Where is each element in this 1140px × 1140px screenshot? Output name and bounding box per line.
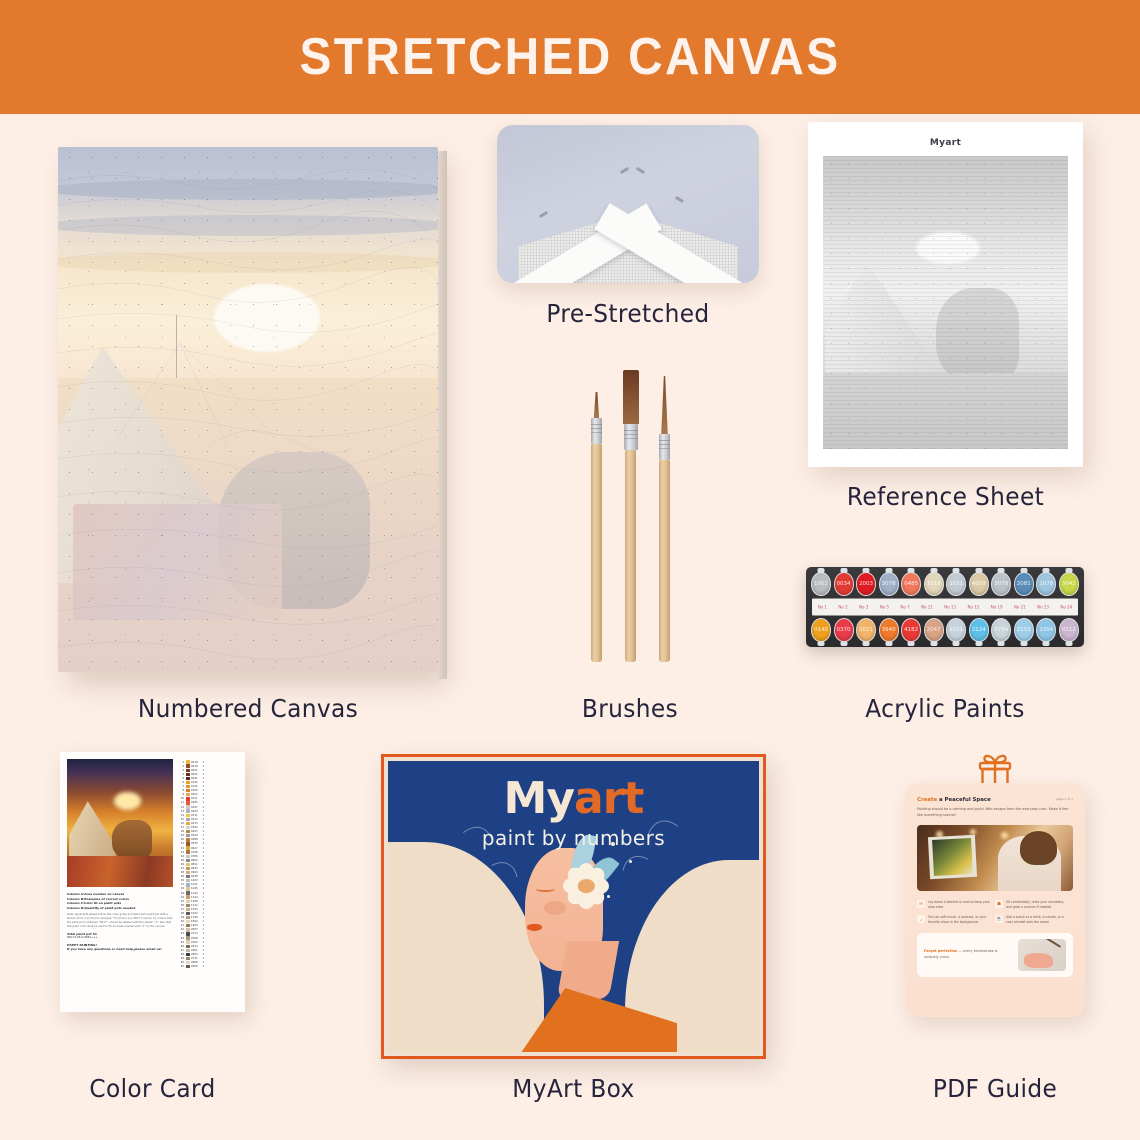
paint-pot: 3078 — [991, 572, 1011, 596]
swatch-qty: 1 — [203, 797, 207, 800]
brush-medium-round — [659, 376, 670, 662]
paint-pot-code: 0140 — [811, 618, 831, 642]
logo-my: My — [504, 773, 574, 824]
swatch-code: 0022 — [191, 773, 201, 776]
paint-pot-code: 0485 — [901, 572, 921, 596]
swatch-code: 0218 — [191, 761, 201, 764]
paint-pot-code: 0034 — [834, 572, 854, 596]
swatch-code: 0141 — [191, 785, 201, 788]
swatch-number: 28 — [178, 871, 184, 874]
swatch-qty: 1 — [203, 773, 207, 776]
paint-pot-code: 0112 — [1059, 618, 1079, 642]
staple — [539, 211, 548, 218]
swatch-code: 0407 — [191, 830, 201, 833]
swatch-code: 2007 — [191, 928, 201, 931]
paint-tray: 1002003420033078048510181031460930782081… — [806, 567, 1084, 647]
caption-myart-box: MyArt Box — [394, 1074, 752, 1103]
paint-label-code: No 11 — [921, 605, 933, 610]
paint-label-code: No 5 — [880, 605, 889, 610]
swatch-code: 0444 — [191, 834, 201, 837]
swatch-code: 1102 — [191, 892, 201, 895]
paint-pot: 1018 — [924, 572, 944, 596]
ref-texture — [823, 156, 1068, 449]
myart-box-front: Myart paint by numbers — [388, 761, 759, 1052]
swatch-code: 0021 — [191, 769, 201, 772]
swatch-code: 1622 — [191, 912, 201, 915]
swatch-qty: 1 — [203, 957, 207, 960]
card-rug — [67, 856, 173, 887]
swatch-number: 2 — [178, 765, 184, 768]
brush-thin-round — [591, 394, 602, 662]
pdf-heading-highlight: Create — [917, 797, 937, 803]
paint-pot: 2204 — [1036, 618, 1056, 642]
swatch-qty: 1 — [203, 912, 207, 915]
pre-stretched-card — [497, 125, 759, 283]
paint-pot: 1078 — [1036, 572, 1056, 596]
swatch-number: 5 — [178, 777, 184, 780]
reference-sheet-logo: Myart — [823, 138, 1068, 148]
swatch-code: 0488 — [191, 838, 201, 841]
brush-tip — [623, 370, 639, 424]
swatch-number: 16 — [178, 822, 184, 825]
paint-pot-code: 1078 — [1036, 572, 1056, 596]
swatch-code: 2604 — [191, 953, 201, 956]
card-tent — [69, 801, 116, 859]
swatch-number: 42 — [178, 928, 184, 931]
swatch-qty: 1 — [203, 908, 207, 911]
paint-pot-code: 0794 — [991, 618, 1011, 642]
swatch-number: 14 — [178, 814, 184, 817]
swatch-qty: 1 — [203, 822, 207, 825]
photo-easel — [928, 835, 977, 880]
caption-numbered-canvas: Numbered Canvas — [71, 694, 424, 723]
photo-easel-painting — [932, 839, 973, 876]
swatch-code: 2302 — [191, 941, 201, 944]
swatch-number: 17 — [178, 826, 184, 829]
paint-pot-code: 1018 — [924, 572, 944, 596]
swatch-qty: 1 — [203, 761, 207, 764]
paint-pot: 4182 — [901, 618, 921, 642]
brush-handle — [591, 444, 602, 662]
paint-label-code: No 21 — [1014, 605, 1026, 610]
swatch-qty: 1 — [203, 892, 207, 895]
swatch-number: 8 — [178, 789, 184, 792]
swatch-qty: 1 — [203, 863, 207, 866]
swatch-code: 2711 — [191, 957, 201, 960]
brush-ferrule — [591, 418, 602, 444]
brush-tip — [659, 376, 670, 434]
swatch-code: 1003 — [191, 879, 201, 882]
swatch-qty: 1 — [203, 847, 207, 850]
pdf-tip: ♪Turn on soft music, a podcast, or your … — [917, 913, 995, 928]
card-camel — [112, 820, 152, 858]
staple — [675, 196, 684, 203]
swatch-number: 43 — [178, 932, 184, 935]
paint-pot: 1031 — [946, 572, 966, 596]
swatch-number: 32 — [178, 887, 184, 890]
paint-pot: 0112 — [1059, 618, 1079, 642]
swatch-qty: 1 — [203, 871, 207, 874]
pdf-callout-image — [1018, 939, 1066, 971]
swatch-number: 15 — [178, 818, 184, 821]
swatch-code: 2900 — [191, 965, 201, 968]
callout-hand — [1024, 953, 1053, 967]
color-card-text: Column A:Area number on canvas Column B:… — [67, 892, 173, 952]
paint-label-code: No 13 — [944, 605, 956, 610]
brush-flat-wide — [625, 370, 636, 662]
staple — [620, 167, 629, 174]
music-icon: ♪ — [917, 915, 925, 923]
swatch-number: 37 — [178, 908, 184, 911]
swatch-code: 0342 — [191, 826, 201, 829]
swatch-number: 24 — [178, 855, 184, 858]
daisy-flower-icon — [562, 866, 610, 907]
brush-handle — [625, 450, 636, 662]
swatch-code: 0535 — [191, 842, 201, 845]
swatch-code: 1503 — [191, 908, 201, 911]
paint-pot-code: 1031 — [946, 572, 966, 596]
pdf-callout-text: Forget perfection — every brushstroke is… — [924, 949, 1012, 961]
swatch-number: 4 — [178, 773, 184, 776]
pdf-tip: ☕Add a snack or a drink, a candle, or a … — [995, 913, 1073, 928]
photo-person-hair — [1020, 831, 1057, 865]
swatch-code: 2808 — [191, 961, 201, 964]
pdf-heading-rest: a Peaceful Space — [937, 797, 991, 803]
swatch-number: 27 — [178, 867, 184, 870]
paint-pot-code: 1021 — [946, 618, 966, 642]
swatch-qty: 1 — [203, 842, 207, 845]
paint-pot-code: 0021 — [856, 618, 876, 642]
cup-icon: ☕ — [995, 915, 1003, 923]
swatch-qty: 1 — [203, 859, 207, 862]
canvas-side-edge — [437, 151, 447, 680]
pdf-guide-tips: ✉Lay down a blanket or mat to keep your … — [917, 898, 1073, 928]
swatch-qty: 1 — [203, 883, 207, 886]
paint-pot-code: 3078 — [879, 572, 899, 596]
swatch-number: 29 — [178, 875, 184, 878]
swatch-code: 0140 — [191, 781, 201, 784]
pdf-guide-body: Painting should be a calming and joyful … — [917, 807, 1073, 819]
paint-pot-code: 2003 — [856, 572, 876, 596]
pdf-tip-text: Lay down a blanket or mat to keep your a… — [928, 900, 992, 910]
swatch-row: 5129001 — [178, 965, 238, 969]
pdf-guide-callout: Forget perfection — every brushstroke is… — [917, 933, 1073, 977]
swatch-qty: 1 — [203, 949, 207, 952]
swatch-qty: 1 — [203, 781, 207, 784]
swatch-number: 35 — [178, 900, 184, 903]
swatch-qty: 1 — [203, 953, 207, 956]
caption-reference-sheet: Reference Sheet — [818, 482, 1074, 511]
swatch-number: 19 — [178, 834, 184, 837]
swatch-number: 26 — [178, 863, 184, 866]
phone-off-icon: ✉ — [917, 900, 925, 908]
swatch-number: 45 — [178, 941, 184, 944]
swatch-qty: 1 — [203, 826, 207, 829]
swatch-code: 0900 — [191, 871, 201, 874]
page-header: STRETCHED CANVAS — [0, 0, 1140, 114]
paint-pot: 3078 — [879, 572, 899, 596]
paint-pot: 0370 — [834, 618, 854, 642]
swatch-code: 0811 — [191, 863, 201, 866]
swatch-qty: 1 — [203, 932, 207, 935]
swatch-number: 20 — [178, 838, 184, 841]
swatch-code: 1244 — [191, 896, 201, 899]
swatch-qty: 1 — [203, 879, 207, 882]
paint-pot: 2047 — [924, 618, 944, 642]
paint-label-code: No 1 — [818, 605, 827, 610]
swatch-number: 41 — [178, 924, 184, 927]
canvas-artwork — [58, 147, 438, 672]
paint-label-code: No 19 — [991, 605, 1003, 610]
paint-label-code: No 23 — [1037, 605, 1049, 610]
paint-pot: 2081 — [1014, 572, 1034, 596]
color-card-image: Column A:Area number on canvas Column B:… — [60, 752, 245, 1012]
pdf-tip: ☗Sit comfortably, relax your shoulders, … — [995, 898, 1073, 913]
swatch-number: 21 — [178, 842, 184, 845]
legend-column-d: Column D:Quantity of paint pots needed — [67, 906, 173, 911]
swatch-number: 6 — [178, 781, 184, 784]
color-card-sku: SKU=0-05-LU3081+++ — [67, 936, 98, 939]
swatch-qty: 1 — [203, 838, 207, 841]
color-card-contact: If you have any questions or need help,p… — [67, 947, 173, 952]
swatch-number: 9 — [178, 793, 184, 796]
paint-pot-code: 3042 — [1059, 572, 1079, 596]
swatch-code: 0207 — [191, 793, 201, 796]
paint-pot-code: 2204 — [1036, 618, 1056, 642]
canvas-contour-lines — [58, 147, 438, 672]
pdf-guide-heading: page 1 of 1 Create a Peaceful Space — [917, 797, 1073, 803]
color-card-artwork — [67, 759, 173, 887]
swatch-qty: 1 — [203, 855, 207, 858]
paint-pot: 0021 — [856, 618, 876, 642]
pdf-guide-card: page 1 of 1 Create a Peaceful Space Pain… — [905, 783, 1085, 1017]
swatch-number: 10 — [178, 797, 184, 800]
paint-pot: 1002 — [811, 572, 831, 596]
chair-icon: ☗ — [995, 900, 1003, 908]
swatch-code: 0802 — [191, 859, 201, 862]
swatch-code: 2414 — [191, 945, 201, 948]
swatch-qty: 1 — [203, 941, 207, 944]
swatch-qty: 1 — [203, 806, 207, 809]
swatch-number: 23 — [178, 851, 184, 854]
swatch-code: 0708 — [191, 851, 201, 854]
reference-sheet-artwork — [823, 156, 1068, 449]
swatch-code: 0617 — [191, 847, 201, 850]
paint-pot-code: 4182 — [901, 618, 921, 642]
brushes-image — [565, 362, 695, 662]
myart-box-image: Myart paint by numbers — [381, 754, 766, 1059]
bokeh-light — [1001, 832, 1008, 839]
swatch-number: 33 — [178, 892, 184, 895]
swatch-number: 1 — [178, 761, 184, 764]
swatch-number: 11 — [178, 801, 184, 804]
swatch-number: 46 — [178, 945, 184, 948]
swatch-number: 18 — [178, 830, 184, 833]
swatch-number: 51 — [178, 965, 184, 968]
paint-label-strip: No 1No 2No 3No 5No 7No 11No 13No 15No 19… — [812, 599, 1078, 616]
swatch-number: 38 — [178, 912, 184, 915]
paint-label-code: No 7 — [900, 605, 909, 610]
paint-pot: 1021 — [946, 618, 966, 642]
swatch-qty: 1 — [203, 965, 207, 968]
myart-tagline: paint by numbers — [388, 826, 759, 850]
myart-box: Myart paint by numbers — [381, 754, 766, 1059]
numbered-canvas-image — [58, 147, 438, 672]
color-card: Column A:Area number on canvas Column B:… — [60, 752, 245, 1012]
paint-pot: 0485 — [901, 572, 921, 596]
caption-color-card: Color Card — [48, 1074, 257, 1103]
pdf-guide-image: page 1 of 1 Create a Peaceful Space Pain… — [905, 759, 1085, 1017]
swatch-qty: 1 — [203, 801, 207, 804]
swatch-number: 22 — [178, 847, 184, 850]
brush-ferrule — [624, 424, 638, 450]
swatch-number: 44 — [178, 937, 184, 940]
color-swatch-table: 1021812001813002114002215004116014017014… — [178, 759, 238, 1005]
swatch-qty: 1 — [203, 777, 207, 780]
logo-art: art — [574, 773, 643, 824]
swatch-qty: 1 — [203, 916, 207, 919]
swatch-qty: 1 — [203, 920, 207, 923]
swatch-chip — [186, 965, 190, 968]
paint-pot-row-bottom: 0140037000213940418220471021212407942153… — [811, 618, 1079, 642]
swatch-qty: 1 — [203, 867, 207, 870]
pdf-tip: ✉Lay down a blanket or mat to keep your … — [917, 898, 995, 913]
pre-stretched-image — [497, 125, 759, 283]
swatch-number: 3 — [178, 769, 184, 772]
swatch-qty: 1 — [203, 945, 207, 948]
swatch-number: 31 — [178, 883, 184, 886]
swatch-code: 0311 — [191, 814, 201, 817]
swatch-qty: 1 — [203, 810, 207, 813]
paint-label-code: No 2 — [838, 605, 847, 610]
paint-pot: 2153 — [1014, 618, 1034, 642]
staple — [636, 167, 645, 174]
swatch-number: 36 — [178, 904, 184, 907]
reference-sheet-image: Myart — [808, 122, 1083, 467]
myart-logo: Myart paint by numbers — [388, 773, 759, 850]
swatch-qty: 1 — [203, 793, 207, 796]
swatch-code: 1045 — [191, 887, 201, 890]
caption-brushes: Brushes — [509, 694, 751, 723]
swatch-qty: 1 — [203, 851, 207, 854]
caption-pdf-guide: PDF Guide — [911, 1074, 1078, 1103]
pdf-tip-text: Add a snack or a drink, a candle, or a c… — [1006, 915, 1070, 925]
paint-pot: 0794 — [991, 618, 1011, 642]
color-card-instructions: when applicable,please follow this color… — [67, 913, 173, 929]
color-card-left: Column A:Area number on canvas Column B:… — [67, 759, 173, 1005]
swatch-code: 2501 — [191, 949, 201, 952]
paint-pot-code: 2081 — [1014, 572, 1034, 596]
paint-pot-code: 3940 — [879, 618, 899, 642]
paint-pot: 2124 — [969, 618, 989, 642]
swatch-qty: 1 — [203, 961, 207, 964]
page-title: STRETCHED CANVAS — [300, 27, 841, 87]
swatch-code: 0766 — [191, 855, 201, 858]
pdf-callout-highlight: Forget perfection — [924, 949, 957, 953]
caption-pre-stretched: Pre-Stretched — [506, 299, 750, 328]
swatch-qty: 1 — [203, 928, 207, 931]
paint-label-code: No 24 — [1060, 605, 1072, 610]
card-sun — [114, 792, 142, 810]
swatch-number: 12 — [178, 806, 184, 809]
swatch-qty: 1 — [203, 834, 207, 837]
paint-pot: 2003 — [856, 572, 876, 596]
swatch-qty: 1 — [203, 814, 207, 817]
swatch-qty: 1 — [203, 830, 207, 833]
swatch-code: 0938 — [191, 875, 201, 878]
swatch-code: 1412 — [191, 904, 201, 907]
swatch-number: 34 — [178, 896, 184, 899]
paint-pot-row-top: 1002003420033078048510181031460930782081… — [811, 572, 1079, 596]
swatch-qty: 1 — [203, 900, 207, 903]
swatch-code: 0333 — [191, 822, 201, 825]
swatch-number: 48 — [178, 953, 184, 956]
swatch-qty: 1 — [203, 818, 207, 821]
swatch-qty: 1 — [203, 875, 207, 878]
swatch-code: 0285 — [191, 801, 201, 804]
paint-pot-code: 2047 — [924, 618, 944, 642]
swatch-qty: 1 — [203, 937, 207, 940]
swatch-code: 0041 — [191, 777, 201, 780]
myart-logo-text: Myart — [388, 773, 759, 824]
swatch-code: 1802 — [191, 920, 201, 923]
swatch-code: 0304 — [191, 810, 201, 813]
swatch-code: 0297 — [191, 806, 201, 809]
swatch-code: 0312 — [191, 818, 201, 821]
pdf-tip-text: Turn on soft music, a podcast, or your f… — [928, 915, 992, 925]
paint-pot: 3042 — [1059, 572, 1079, 596]
paint-pot-code: 2153 — [1014, 618, 1034, 642]
swatch-number: 30 — [178, 879, 184, 882]
product-grid: Numbered Canvas Pre-Stretched Myart — [0, 114, 1140, 1140]
paint-pot: 3940 — [879, 618, 899, 642]
swatch-number: 40 — [178, 920, 184, 923]
swatch-number: 7 — [178, 785, 184, 788]
swatch-code: 1021 — [191, 883, 201, 886]
swatch-number: 47 — [178, 949, 184, 952]
paint-pot: 0140 — [811, 618, 831, 642]
paint-pot: 4609 — [969, 572, 989, 596]
paint-pot-code: 4609 — [969, 572, 989, 596]
box-eye — [536, 886, 555, 892]
caption-acrylic-paints: Acrylic Paints — [816, 694, 1075, 723]
swatch-qty: 1 — [203, 789, 207, 792]
pdf-tip-text: Sit comfortably, relax your shoulders, a… — [1006, 900, 1070, 910]
swatch-qty: 1 — [203, 924, 207, 927]
swatch-qty: 1 — [203, 887, 207, 890]
callout-brush — [1044, 939, 1061, 948]
swatch-code: 0155 — [191, 789, 201, 792]
pdf-page-number: page 1 of 1 — [1056, 797, 1073, 801]
brush-handle — [659, 460, 670, 662]
paint-pot-code: 2124 — [969, 618, 989, 642]
paint-pot-code: 1002 — [811, 572, 831, 596]
paint-label-code: No 15 — [968, 605, 980, 610]
swatch-code: 0211 — [191, 797, 201, 800]
swatch-qty: 1 — [203, 896, 207, 899]
swatch-code: 1708 — [191, 916, 201, 919]
swatch-qty: 1 — [203, 765, 207, 768]
bokeh-light — [970, 829, 976, 835]
swatch-number: 49 — [178, 957, 184, 960]
swatch-qty: 1 — [203, 904, 207, 907]
pdf-guide-photo — [917, 825, 1073, 891]
swatch-number: 50 — [178, 961, 184, 964]
swatch-code: 0018 — [191, 765, 201, 768]
swatch-code: 0843 — [191, 867, 201, 870]
paint-pot-code: 0370 — [834, 618, 854, 642]
swatch-number: 25 — [178, 859, 184, 862]
